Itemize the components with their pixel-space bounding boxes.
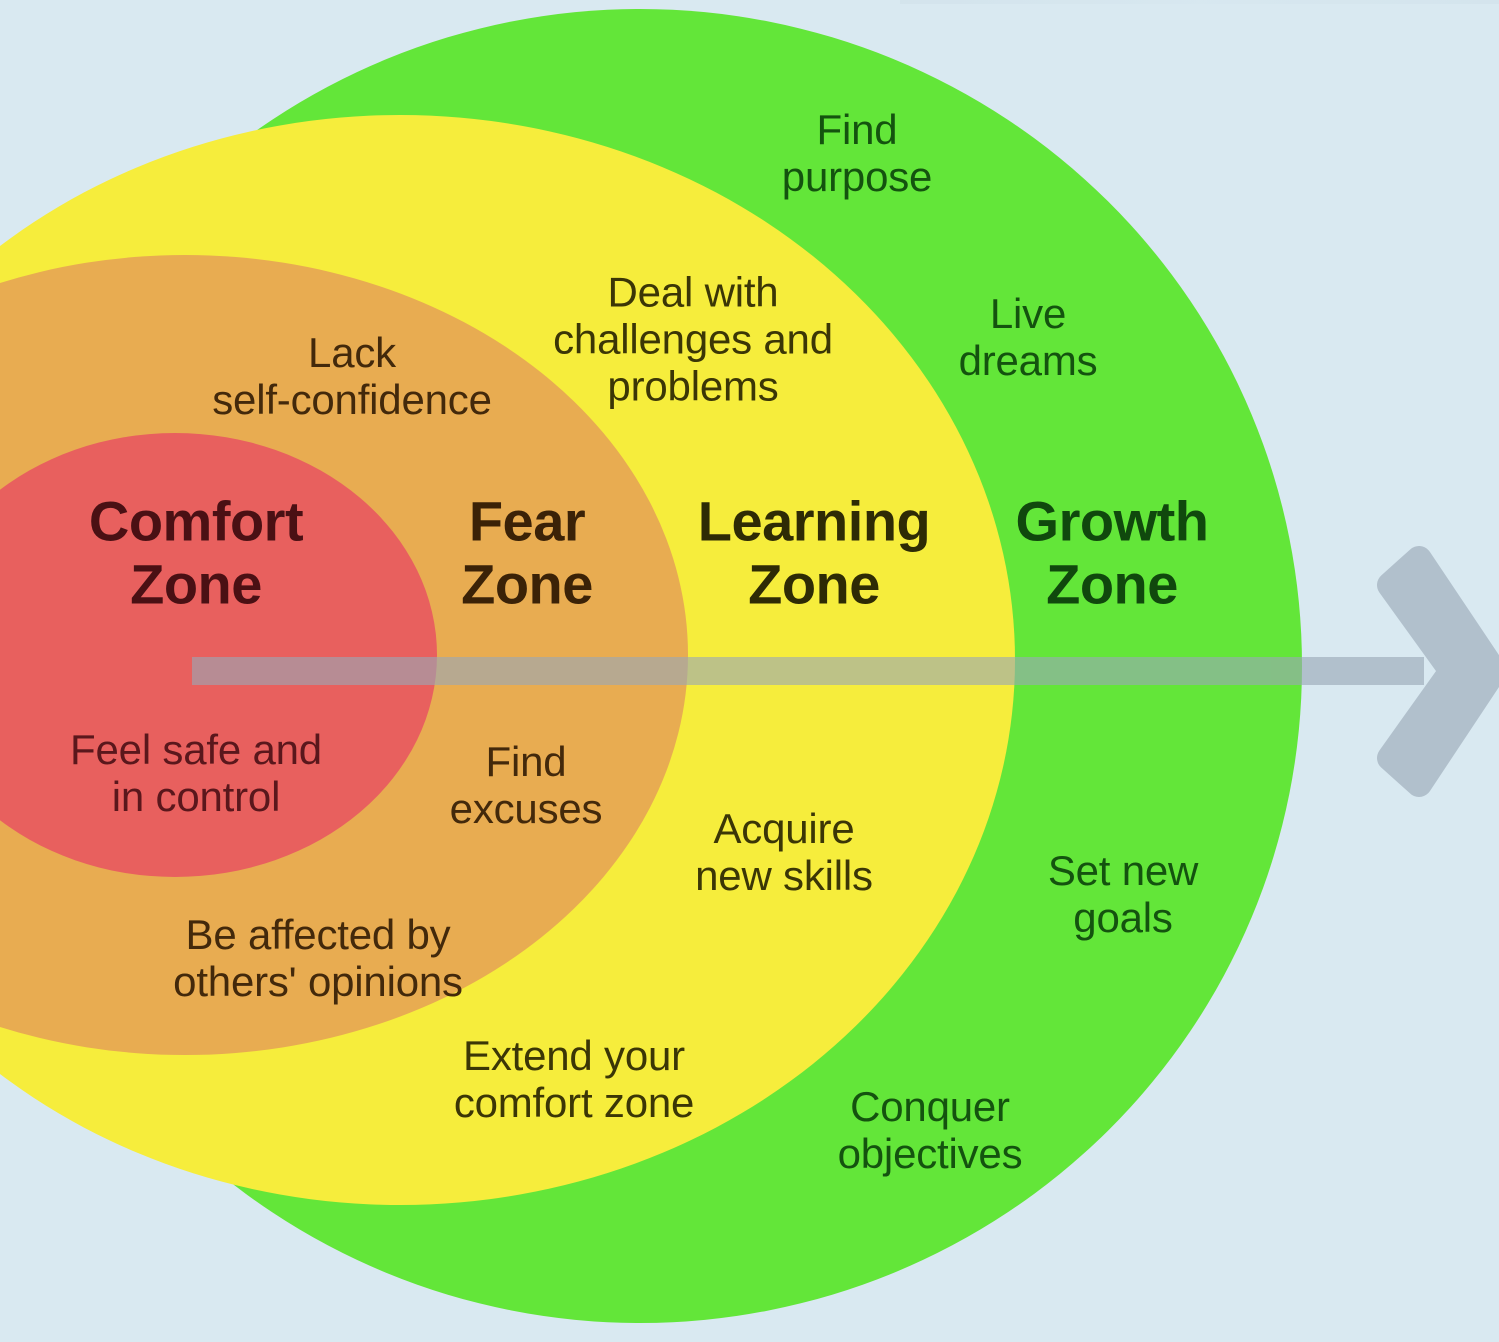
zone-rings — [0, 0, 1499, 1342]
comfort-zone-diagram: Comfort Zone Fear Zone Learning Zone Gro… — [0, 0, 1499, 1342]
